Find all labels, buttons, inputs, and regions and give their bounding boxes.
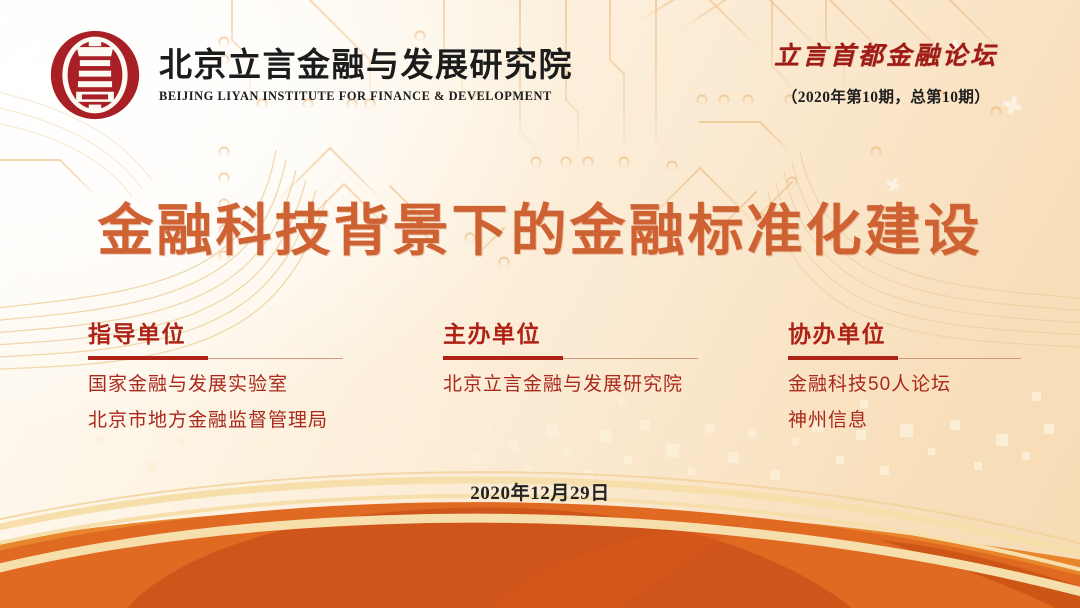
liyan-seal-logo-icon xyxy=(47,27,143,123)
conference-poster: 北京立言金融与发展研究院 BEIJING LIYAN INSTITUTE FOR… xyxy=(0,0,1080,608)
organizer-rule xyxy=(788,356,1021,360)
organizer-rule xyxy=(88,356,343,360)
organizer-entry: 神州信息 xyxy=(788,411,1021,430)
organizer-entry: 北京市地方金融监督管理局 xyxy=(88,411,343,430)
forum-title: 立言首都金融论坛 xyxy=(736,36,1036,72)
institute-name-cn: 北京立言金融与发展研究院 xyxy=(159,49,573,85)
organizers-section: 指导单位 国家金融与发展实验室 北京市地方金融监督管理局 主办单位 北京立言金融… xyxy=(0,322,1080,452)
organizer-heading: 主办单位 xyxy=(443,322,698,347)
poster-header: 北京立言金融与发展研究院 BEIJING LIYAN INSTITUTE FOR… xyxy=(0,0,1080,130)
organizer-heading: 协办单位 xyxy=(788,322,1021,347)
organizer-entry: 北京立言金融与发展研究院 xyxy=(443,375,698,394)
organizer-column-host: 主办单位 北京立言金融与发展研究院 xyxy=(443,322,698,394)
organizer-rule xyxy=(443,356,698,360)
institute-name-en: BEIJING LIYAN INSTITUTE FOR FINANCE & DE… xyxy=(159,89,573,105)
event-date: 2020年12月29日 xyxy=(0,478,1080,505)
organizer-column-cohost: 协办单位 金融科技50人论坛 神州信息 xyxy=(788,322,1021,430)
organizer-entry: 国家金融与发展实验室 xyxy=(88,375,343,394)
forum-issue: （2020年第10期，总第10期） xyxy=(736,85,1036,107)
brand-lockup: 北京立言金融与发展研究院 BEIJING LIYAN INSTITUTE FOR… xyxy=(47,27,573,123)
forum-series-block: 立言首都金融论坛 （2020年第10期，总第10期） xyxy=(736,36,1036,107)
organizer-heading: 指导单位 xyxy=(88,322,343,347)
page-title: 金融科技背景下的金融标准化建设 xyxy=(0,186,1080,267)
organizer-entry: 金融科技50人论坛 xyxy=(788,375,1021,394)
organizer-column-guidance: 指导单位 国家金融与发展实验室 北京市地方金融监督管理局 xyxy=(88,322,343,430)
